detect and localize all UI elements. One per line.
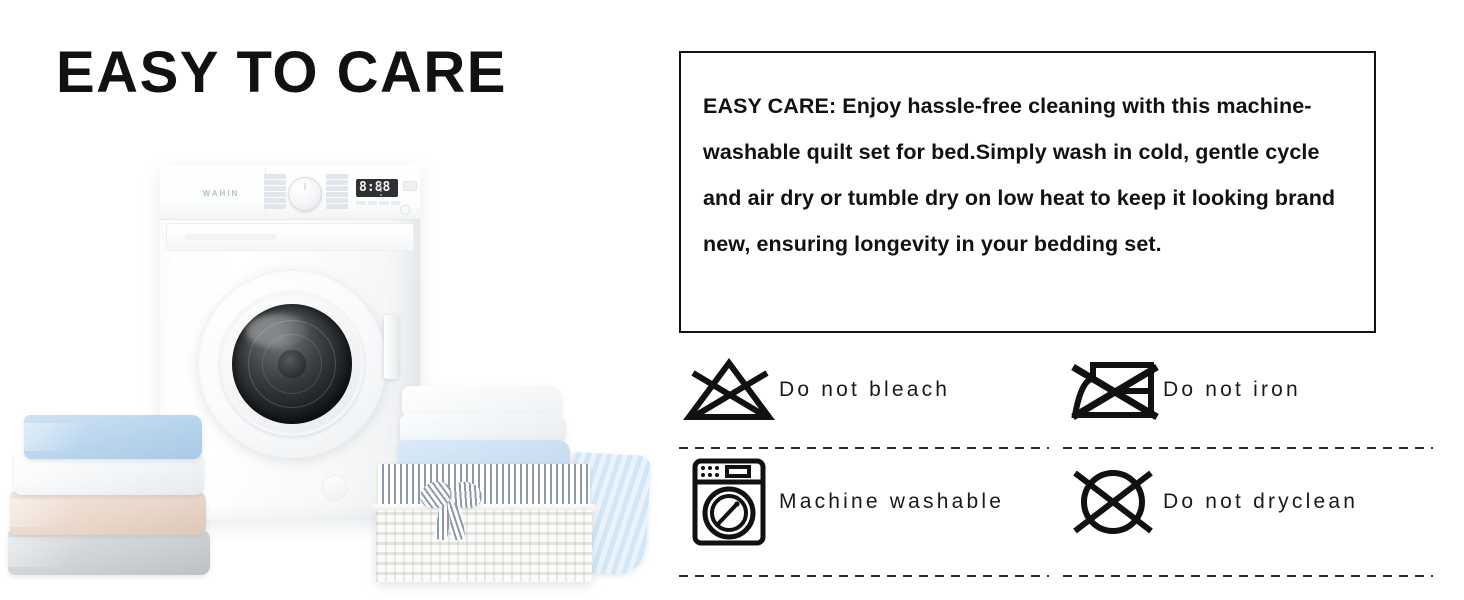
towel-blue bbox=[24, 415, 202, 459]
care-item-do-not-iron: Do not iron bbox=[1063, 345, 1433, 455]
care-item-do-not-bleach: Do not bleach bbox=[679, 345, 1049, 455]
glass-glare bbox=[246, 314, 308, 348]
do-not-bleach-icon bbox=[679, 357, 779, 423]
do-not-dryclean-icon bbox=[1063, 461, 1163, 543]
washer-door-handle[interactable] bbox=[384, 315, 398, 379]
care-label-do-not-bleach: Do not bleach bbox=[779, 378, 950, 402]
washer-display-indicators bbox=[380, 182, 394, 197]
washer-brand-label: WAHIN bbox=[184, 189, 258, 198]
folded-towel-stack bbox=[6, 415, 221, 590]
care-item-machine-washable: Machine washable bbox=[679, 457, 1049, 567]
towel-white bbox=[14, 453, 204, 495]
care-label-do-not-dryclean: Do not dryclean bbox=[1163, 490, 1358, 514]
care-divider bbox=[1063, 447, 1433, 449]
drum-hub bbox=[278, 350, 306, 378]
right-content-panel: EASY CARE: Enjoy hassle-free cleaning wi… bbox=[660, 0, 1464, 600]
machine-washable-icon bbox=[679, 456, 779, 548]
washer-door-ring bbox=[220, 292, 364, 436]
do-not-iron-icon bbox=[1063, 355, 1163, 425]
washer-door[interactable] bbox=[198, 270, 386, 458]
program-labels-right bbox=[326, 174, 348, 210]
towel-beige bbox=[10, 491, 206, 535]
basket-ribbon-bow bbox=[420, 482, 486, 538]
towel-grey bbox=[8, 529, 210, 575]
washer-door-glass bbox=[232, 304, 352, 424]
washer-logo-icon bbox=[400, 205, 410, 215]
washer-button-row[interactable] bbox=[356, 201, 400, 205]
page-title: EASY TO CARE bbox=[56, 44, 507, 102]
care-divider bbox=[679, 447, 1049, 449]
left-image-panel: EASY TO CARE WAHIN 8:88 bbox=[0, 0, 660, 600]
care-description-text: EASY CARE: Enjoy hassle-free cleaning wi… bbox=[681, 53, 1374, 267]
care-item-do-not-dryclean: Do not dryclean bbox=[1063, 457, 1433, 567]
care-symbols-grid: Do not bleach Do not iron bbox=[679, 345, 1449, 585]
care-label-do-not-iron: Do not iron bbox=[1163, 378, 1301, 402]
washer-control-panel: WAHIN 8:88 bbox=[160, 165, 420, 220]
detergent-drawer[interactable] bbox=[166, 223, 414, 251]
easy-to-care-infographic: EASY TO CARE WAHIN 8:88 bbox=[0, 0, 1464, 600]
care-divider bbox=[679, 575, 1049, 577]
care-divider bbox=[1063, 575, 1433, 577]
laundry-basket-photo bbox=[372, 382, 650, 592]
washer-start-button[interactable] bbox=[403, 181, 417, 191]
program-labels-left bbox=[264, 174, 286, 210]
washer-filter-cap[interactable] bbox=[322, 475, 348, 501]
care-label-machine-washable: Machine washable bbox=[779, 490, 1004, 514]
washer-display: 8:88 bbox=[356, 179, 398, 197]
care-description-box: EASY CARE: Enjoy hassle-free cleaning wi… bbox=[679, 51, 1376, 333]
program-dial[interactable] bbox=[288, 177, 322, 211]
